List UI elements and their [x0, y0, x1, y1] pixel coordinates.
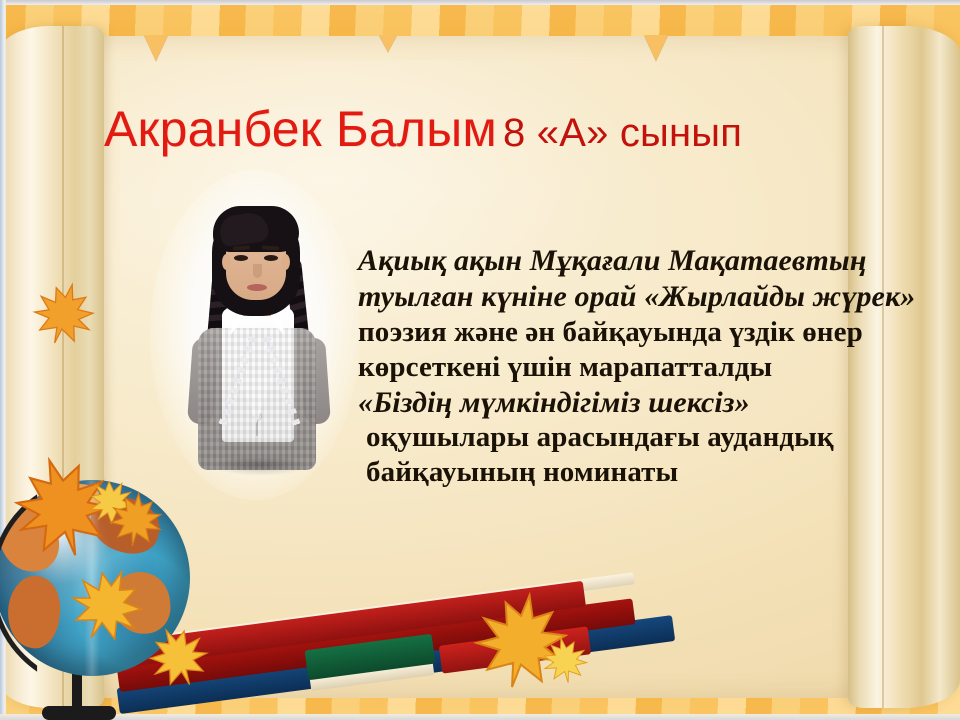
- vest-knit-texture: [198, 328, 316, 470]
- student-name: Акранбек Балым: [104, 101, 497, 157]
- text-line: байқауының номинаты: [358, 458, 938, 488]
- page-title: Акранбек Балым8 «А» сынып: [104, 100, 742, 158]
- text-line: Ақиық ақын Мұқағали Мақатаевтың: [358, 246, 938, 277]
- figure-shadow: [212, 458, 308, 476]
- award-description: Ақиық ақын Мұқағали Мақатаевтың туылған …: [358, 246, 938, 493]
- ear-left: [222, 254, 231, 270]
- student-class: 8 «А» сынып: [503, 111, 742, 155]
- eye-left: [234, 255, 248, 261]
- student-photo: [150, 170, 360, 500]
- portrait-figure: [150, 170, 360, 500]
- eye-right: [264, 255, 278, 261]
- globe-base: [42, 706, 116, 720]
- text-line: оқушылары арасындағы аудандық: [358, 423, 938, 453]
- slide-canvas: Акранбек Балым8 «А» сынып: [0, 0, 960, 720]
- text-line: поэзия және ән байқауында үздік өнер: [358, 318, 938, 348]
- maple-leaf-icon: [537, 633, 591, 687]
- mouth: [247, 284, 267, 291]
- text-line: «Біздің мүмкіндігіміз шексіз»: [358, 388, 938, 419]
- ear-right: [281, 254, 290, 270]
- parchment-notch: [379, 35, 397, 52]
- parchment-notch: [644, 35, 668, 61]
- parchment-notch: [144, 35, 168, 61]
- text-line: туылған күніне орай «Жырлайды жүрек»: [358, 282, 938, 313]
- text-line: көрсеткені үшін марапатталды: [358, 353, 938, 383]
- frame-edge-top: [0, 0, 960, 5]
- nose: [253, 264, 262, 278]
